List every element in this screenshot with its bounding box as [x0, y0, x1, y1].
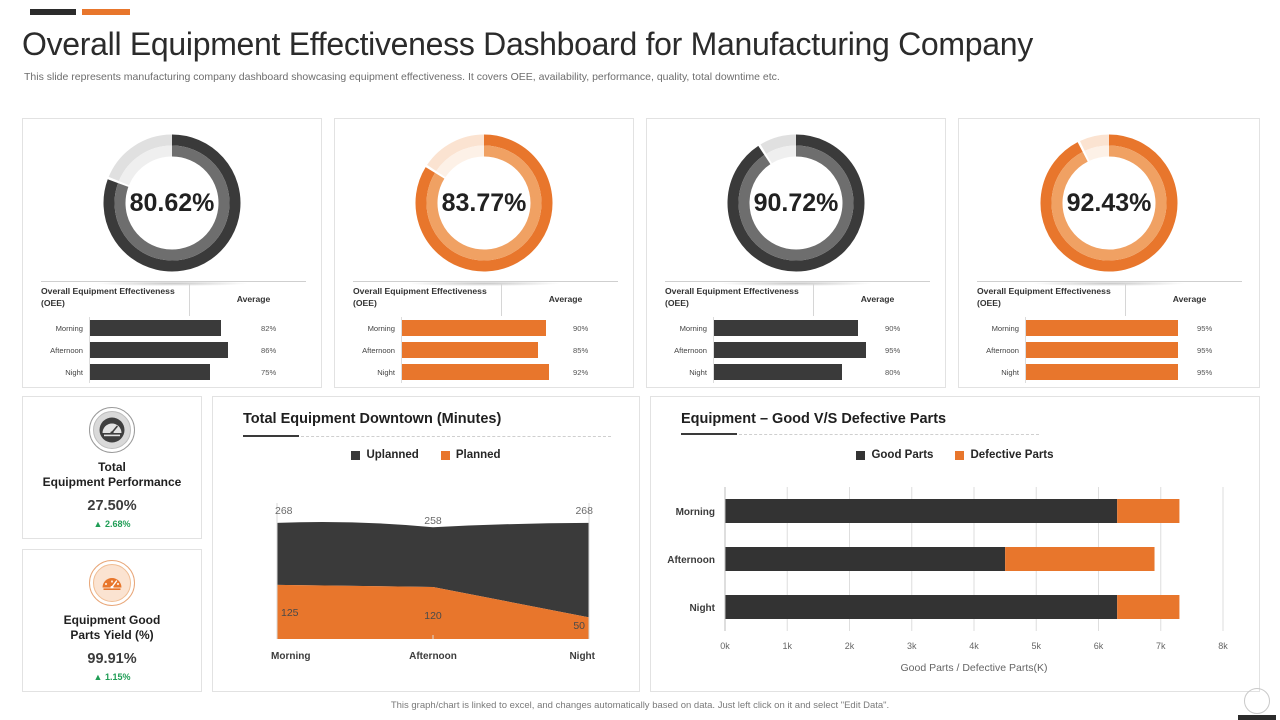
donut-center-value: 90.72% [647, 189, 945, 218]
donut-center-value: 83.77% [335, 189, 633, 218]
kpi-bar-track [89, 361, 255, 383]
kpi-header-left: Overall Equipment Effectiveness (OEE) [977, 286, 1117, 309]
title-underline [681, 433, 1039, 435]
kpi-card-row: 80.62% Overall Equipment Effectiveness (… [22, 118, 1260, 388]
kpi-bar-fill [90, 364, 210, 380]
x-axis-tick-label: Afternoon [409, 651, 457, 662]
kpi-bar-row: Afternoon 95% [977, 339, 1247, 361]
kpi-bar-value: 95% [879, 346, 900, 355]
kpi-bar-row: Night 95% [977, 361, 1247, 383]
kpi-bar-fill [402, 342, 538, 358]
x-axis-tick-label: 2k [845, 641, 855, 651]
kpi-bar-value: 82% [255, 324, 276, 333]
legend-swatch-icon [441, 451, 450, 460]
kpi-table-header: Overall Equipment Effectiveness (OEE) Av… [977, 281, 1242, 315]
kpi-card[interactable]: 92.43% Overall Equipment Effectiveness (… [958, 118, 1260, 388]
corner-bar-decoration [1238, 715, 1276, 720]
kpi-bar-fill [1026, 342, 1178, 358]
accent-bar-dark-icon [30, 9, 76, 15]
kpi-bar-value: 80% [879, 368, 900, 377]
page-subtitle: This slide represents manufacturing comp… [24, 71, 780, 83]
y-axis-tick-label: Afternoon [667, 555, 715, 566]
kpi-bar-fill [402, 364, 549, 380]
bar-good-parts [725, 547, 1005, 571]
bottom-section: Total Equipment Performance 27.50% ▲ 2.6… [22, 396, 1260, 692]
area-data-label-top: 268 [275, 505, 293, 517]
donut-wrapper: 83.77% [335, 127, 633, 282]
kpi-bar-value: 90% [567, 324, 588, 333]
area-data-label-bottom: 50 [573, 620, 585, 632]
kpi-bar-label: Afternoon [41, 346, 89, 355]
x-axis-tick-label: 0k [720, 641, 730, 651]
donut-wrapper: 92.43% [959, 127, 1259, 282]
kpi-bar-fill [90, 320, 221, 336]
x-axis-tick-label: 5k [1031, 641, 1041, 651]
kpi-bar-fill [714, 364, 842, 380]
downtime-area-chart: 26825826812512050MorningAfternoonNight [213, 481, 641, 681]
accent-bar-orange-icon [82, 9, 130, 15]
kpi-bar-fill [1026, 364, 1178, 380]
kpi-bar-list: Morning 95% Afternoon 95% Night 95% [977, 317, 1247, 383]
x-axis-tick-label: 8k [1218, 641, 1228, 651]
x-axis-tick-label: Night [569, 651, 595, 662]
kpi-header-divider [813, 283, 814, 316]
kpi-bar-track [1025, 317, 1191, 339]
mini-card-title: Equipment Good Parts Yield (%) [64, 613, 161, 643]
kpi-table-header: Overall Equipment Effectiveness (OEE) Av… [353, 281, 618, 315]
area-data-label-top: 258 [424, 515, 442, 527]
kpi-bar-track [89, 317, 255, 339]
kpi-header-right: Average [1137, 294, 1242, 304]
chart-title: Equipment – Good V/S Defective Parts [651, 397, 1259, 427]
corner-circle-decoration [1244, 688, 1270, 714]
kpi-bar-label: Morning [977, 324, 1025, 333]
kpi-bar-fill [1026, 320, 1178, 336]
kpi-header-divider [501, 283, 502, 316]
bar-defective-parts [1117, 499, 1179, 523]
kpi-card[interactable]: 90.72% Overall Equipment Effectiveness (… [646, 118, 946, 388]
kpi-bar-track [401, 339, 567, 361]
legend-swatch-icon [351, 451, 360, 460]
donut-center-value: 92.43% [959, 189, 1259, 218]
area-data-label-bottom: 125 [281, 607, 299, 619]
kpi-header-divider [189, 283, 190, 316]
kpi-bar-label: Morning [665, 324, 713, 333]
kpi-bar-label: Night [41, 368, 89, 377]
kpi-bar-value: 92% [567, 368, 588, 377]
mini-card-column: Total Equipment Performance 27.50% ▲ 2.6… [22, 396, 202, 692]
chart-legend: Good Parts Defective Parts [651, 449, 1259, 461]
legend-item-uplanned[interactable]: Uplanned [351, 449, 418, 461]
dashboard-page: Overall Equipment Effectiveness Dashboar… [0, 0, 1280, 720]
kpi-bar-value: 75% [255, 368, 276, 377]
page-title: Overall Equipment Effectiveness Dashboar… [22, 26, 1033, 63]
legend-swatch-icon [856, 451, 865, 460]
donut-wrapper: 80.62% [23, 127, 321, 282]
kpi-header-right: Average [201, 294, 306, 304]
donut-center-value: 80.62% [23, 189, 321, 218]
mini-card-title-line1: Total [98, 460, 126, 474]
mini-card-value: 99.91% [87, 651, 136, 667]
mini-card-delta: ▲ 2.68% [94, 519, 131, 529]
mini-card-total-equipment-performance[interactable]: Total Equipment Performance 27.50% ▲ 2.6… [22, 396, 202, 539]
kpi-bar-row: Night 75% [41, 361, 311, 383]
kpi-bar-value: 95% [1191, 368, 1212, 377]
kpi-bar-track [1025, 339, 1191, 361]
kpi-bar-label: Night [977, 368, 1025, 377]
kpi-bar-value: 86% [255, 346, 276, 355]
kpi-card[interactable]: 83.77% Overall Equipment Effectiveness (… [334, 118, 634, 388]
mini-card-value: 27.50% [87, 498, 136, 514]
legend-swatch-icon [955, 451, 964, 460]
accent-bars [30, 9, 130, 15]
kpi-table-header: Overall Equipment Effectiveness (OEE) Av… [41, 281, 306, 315]
bar-defective-parts [1005, 547, 1154, 571]
area-data-label-bottom: 120 [424, 610, 442, 622]
kpi-bar-row: Afternoon 95% [665, 339, 935, 361]
kpi-bar-row: Night 92% [353, 361, 623, 383]
x-axis-tick-label: Morning [271, 651, 310, 662]
mini-card-title-line2: Parts Yield (%) [70, 628, 153, 642]
kpi-bar-track [1025, 361, 1191, 383]
kpi-bar-value: 85% [567, 346, 588, 355]
kpi-bar-track [89, 339, 255, 361]
y-axis-tick-label: Night [689, 603, 715, 614]
kpi-header-right: Average [825, 294, 930, 304]
kpi-bar-row: Morning 82% [41, 317, 311, 339]
kpi-bar-track [401, 317, 567, 339]
mini-card-title-line2: Equipment Performance [43, 475, 182, 489]
kpi-bar-label: Morning [41, 324, 89, 333]
x-axis-tick-label: 4k [969, 641, 979, 651]
gauge-icon [88, 406, 136, 454]
x-axis-tick-label: 6k [1094, 641, 1104, 651]
legend-item-planned[interactable]: Planned [441, 449, 501, 461]
kpi-bar-track [713, 317, 879, 339]
kpi-bar-row: Morning 90% [353, 317, 623, 339]
kpi-bar-track [401, 361, 567, 383]
good-vs-defective-bar-chart: MorningAfternoonNight0k1k2k3k4k5k6k7k8kG… [651, 473, 1251, 688]
kpi-header-divider [1125, 283, 1126, 316]
legend-label: Planned [456, 449, 501, 461]
kpi-card[interactable]: 80.62% Overall Equipment Effectiveness (… [22, 118, 322, 388]
kpi-bar-row: Afternoon 86% [41, 339, 311, 361]
kpi-bar-list: Morning 82% Afternoon 86% Night 75% [41, 317, 311, 383]
x-axis-tick-label: 7k [1156, 641, 1166, 651]
chart-legend: Uplanned Planned [213, 449, 639, 461]
kpi-bar-fill [714, 342, 866, 358]
legend-label: Uplanned [366, 449, 418, 461]
legend-item-defective-parts[interactable]: Defective Parts [955, 449, 1053, 461]
kpi-bar-row: Morning 95% [977, 317, 1247, 339]
donut-wrapper: 90.72% [647, 127, 945, 282]
legend-item-good-parts[interactable]: Good Parts [856, 449, 933, 461]
mini-card-delta: ▲ 1.15% [94, 672, 131, 682]
chart-card-total-equipment-downtime[interactable]: Total Equipment Downtown (Minutes) Uplan… [212, 396, 640, 692]
kpi-bar-label: Night [665, 368, 713, 377]
kpi-bar-track [713, 339, 879, 361]
kpi-header-left: Overall Equipment Effectiveness (OEE) [665, 286, 805, 309]
kpi-bar-row: Afternoon 85% [353, 339, 623, 361]
footer-note: This graph/chart is linked to excel, and… [0, 700, 1280, 711]
kpi-bar-label: Afternoon [353, 346, 401, 355]
kpi-bar-list: Morning 90% Afternoon 85% Night 92% [353, 317, 623, 383]
bar-good-parts [725, 595, 1117, 619]
bar-good-parts [725, 499, 1117, 523]
mini-card-title: Total Equipment Performance [43, 460, 182, 490]
kpi-bar-fill [402, 320, 546, 336]
kpi-bar-label: Night [353, 368, 401, 377]
kpi-bar-label: Morning [353, 324, 401, 333]
kpi-bar-label: Afternoon [665, 346, 713, 355]
kpi-bar-track [713, 361, 879, 383]
kpi-table-header: Overall Equipment Effectiveness (OEE) Av… [665, 281, 930, 315]
area-data-label-top: 268 [575, 505, 593, 517]
mini-card-equipment-good-parts-yield[interactable]: Equipment Good Parts Yield (%) 99.91% ▲ … [22, 549, 202, 692]
gauge-icon [88, 559, 136, 607]
kpi-bar-label: Afternoon [977, 346, 1025, 355]
x-axis-tick-label: 3k [907, 641, 917, 651]
legend-label: Defective Parts [970, 449, 1053, 461]
kpi-bar-fill [90, 342, 228, 358]
x-axis-tick-label: 1k [782, 641, 792, 651]
kpi-bar-row: Morning 90% [665, 317, 935, 339]
kpi-bar-value: 90% [879, 324, 900, 333]
y-axis-tick-label: Morning [676, 507, 715, 518]
legend-label: Good Parts [871, 449, 933, 461]
x-axis-title: Good Parts / Defective Parts(K) [900, 662, 1047, 674]
bar-defective-parts [1117, 595, 1179, 619]
title-underline [243, 435, 611, 437]
kpi-header-left: Overall Equipment Effectiveness (OEE) [353, 286, 493, 309]
kpi-bar-value: 95% [1191, 346, 1212, 355]
kpi-header-left: Overall Equipment Effectiveness (OEE) [41, 286, 181, 309]
chart-card-good-vs-defective-parts[interactable]: Equipment – Good V/S Defective Parts Goo… [650, 396, 1260, 692]
kpi-bar-row: Night 80% [665, 361, 935, 383]
kpi-bar-value: 95% [1191, 324, 1212, 333]
kpi-bar-fill [714, 320, 858, 336]
kpi-header-right: Average [513, 294, 618, 304]
chart-title: Total Equipment Downtown (Minutes) [213, 397, 639, 427]
kpi-bar-list: Morning 90% Afternoon 95% Night 80% [665, 317, 935, 383]
mini-card-title-line1: Equipment Good [64, 613, 161, 627]
